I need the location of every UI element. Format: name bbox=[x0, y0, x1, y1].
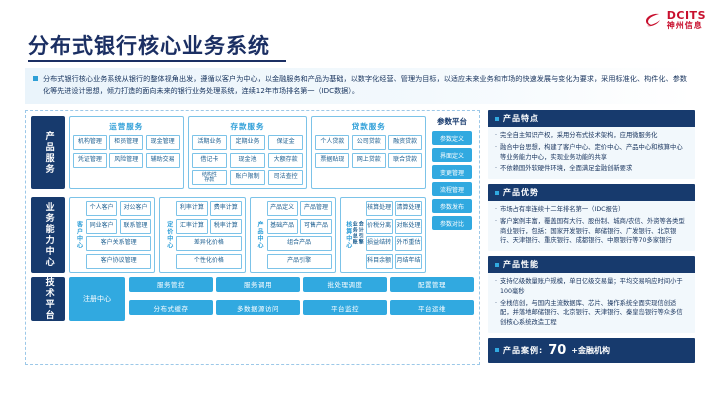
center-item-wide[interactable]: 客户协议管理 bbox=[86, 254, 151, 269]
center-item[interactable]: 个人客户 bbox=[86, 201, 117, 216]
center-item-wide[interactable]: 个性化价格 bbox=[176, 254, 241, 269]
bullet-dot-icon: · bbox=[495, 164, 497, 174]
group-title: 贷款服务 bbox=[315, 121, 422, 132]
info-card-item: ·客户案例丰富，覆盖国有大行、股份制、城商/农信、外资等各类型商业银行，包括：国… bbox=[495, 217, 688, 246]
product-case-banner: 产品案例: 70 +金融机构 bbox=[488, 338, 695, 363]
center-item[interactable]: 外币重估 bbox=[395, 236, 422, 251]
service-item[interactable]: 借记卡 bbox=[192, 153, 228, 168]
band-tech-platform: 技术平台注册中心服务管控服务调用批处理调度配置管理分布式缓存多数据源访问平台监控… bbox=[31, 277, 474, 321]
service-item[interactable]: 风险管理 bbox=[109, 153, 143, 168]
bullet-dot-icon: · bbox=[495, 217, 497, 246]
param-platform-title: 参数平台 bbox=[437, 116, 467, 127]
center-label: 定价中心 bbox=[166, 221, 172, 249]
param-item[interactable]: 界面定义 bbox=[432, 148, 472, 162]
side-label-text: 业务能力中心 bbox=[42, 202, 53, 268]
center-item[interactable]: 月结年结 bbox=[395, 254, 422, 269]
band-business-capability: 业务能力中心客户中心个人客户对公客户同业客户联系管理客户关系管理客户协议管理定价… bbox=[31, 197, 426, 273]
side-label-business-capability: 业务能力中心 bbox=[31, 197, 65, 273]
info-card-item: ·完全自主知识产权，采用分布式技术架构，应用微服务化 bbox=[495, 131, 688, 141]
info-card-item: ·不依赖国外软硬件环境，全面满足金融创新要求 bbox=[495, 164, 688, 174]
center-label: 核算中心 bbox=[345, 221, 351, 249]
center-item[interactable]: 对公客户 bbox=[120, 201, 151, 216]
center-item-wide[interactable]: 产品引擎 bbox=[267, 254, 332, 269]
group-title: 存款服务 bbox=[192, 121, 304, 132]
band-product-service: 产品服务运营服务机构管理柜员管理现金管理凭证管理风险管理辅助交易存款服务活期业务… bbox=[31, 116, 426, 189]
service-item[interactable]: 联合贷款 bbox=[388, 153, 422, 168]
service-item[interactable]: 保证金 bbox=[268, 135, 304, 150]
service-item[interactable]: 定期业务 bbox=[230, 135, 266, 150]
side-label-tech-platform: 技术平台 bbox=[31, 277, 65, 321]
service-item[interactable]: 柜员管理 bbox=[109, 135, 143, 150]
info-card-item: ·支持亿级数量账户规模，单日亿级交易量；平均交易响应时间小于100毫秒 bbox=[495, 277, 688, 297]
tech-item[interactable]: 分布式缓存 bbox=[129, 300, 213, 315]
center-item-wide[interactable]: 组合产品 bbox=[267, 236, 332, 251]
info-card-3: 产品性能·支持亿级数量账户规模，单日亿级交易量；平均交易响应时间小于100毫秒·… bbox=[488, 256, 695, 333]
center-item[interactable]: 基础产品 bbox=[267, 219, 298, 234]
service-item[interactable]: 凭证管理 bbox=[73, 153, 107, 168]
logo-en-text: DCITS bbox=[667, 10, 706, 21]
case-number: 70 bbox=[548, 343, 566, 358]
info-card-title: 产品特点 bbox=[503, 113, 539, 124]
center-item[interactable]: 费率计算 bbox=[210, 201, 241, 216]
tech-item[interactable]: 配置管理 bbox=[390, 277, 474, 292]
center-item-wide[interactable]: 客户关系管理 bbox=[86, 236, 151, 251]
info-card-item-text: 市场占有率连续十二年排名第一（IDC报告） bbox=[500, 205, 624, 215]
tech-item[interactable]: 平台监控 bbox=[303, 300, 387, 315]
intro-band: 分布式银行核心业务系统从银行的整体视角出发，遵循以客户为中心，以金融服务和产品为… bbox=[25, 68, 693, 104]
center-item[interactable]: 可售产品 bbox=[300, 219, 331, 234]
tech-item[interactable]: 批处理调度 bbox=[303, 277, 387, 292]
service-item[interactable]: 结构性 存款 bbox=[192, 170, 228, 185]
service-item[interactable]: 现金池 bbox=[230, 153, 266, 168]
bullet-dot-icon: · bbox=[495, 143, 497, 163]
center-item[interactable]: 科目余额 bbox=[366, 254, 393, 269]
info-card-item: ·全栈信创，与国内主流数据库、芯片、操作系统全面实现信创适配，并落地邮储银行、北… bbox=[495, 299, 688, 328]
info-card-item-text: 融合中台思想，构建了客户中心、定价中心、产品中心和核算中心等业务能力中心，实现业… bbox=[500, 143, 688, 163]
register-center[interactable]: 注册中心 bbox=[69, 277, 125, 321]
info-card-item-text: 不依赖国外软硬件环境，全面满足金融创新要求 bbox=[500, 164, 632, 174]
info-card-item-text: 全栈信创，与国内主流数据库、芯片、操作系统全面实现信创适配，并落地邮储银行、北京… bbox=[500, 299, 688, 328]
param-item[interactable]: 参数对比 bbox=[432, 216, 472, 230]
bullet-dot-icon: · bbox=[495, 131, 497, 141]
architecture-diagram: 产品服务运营服务机构管理柜员管理现金管理凭证管理风险管理辅助交易存款服务活期业务… bbox=[25, 110, 480, 365]
center-group-4: 会计引擎业务总账核算中心核算处理清算处理价税分离对账处理损益结转外币重估科目余额… bbox=[340, 197, 426, 273]
center-item[interactable]: 价税分离 bbox=[366, 219, 393, 234]
service-group-1: 运营服务机构管理柜员管理现金管理凭证管理风险管理辅助交易 bbox=[69, 116, 184, 189]
bullet-dot-icon: · bbox=[495, 299, 497, 328]
service-item[interactable]: 大额存款 bbox=[268, 153, 304, 168]
bullet-dot-icon: · bbox=[495, 277, 497, 297]
center-item[interactable]: 利率计算 bbox=[176, 201, 207, 216]
center-sub-label: 业务总账 bbox=[352, 221, 357, 249]
service-item[interactable]: 辅助交易 bbox=[146, 153, 180, 168]
square-bullet-icon bbox=[495, 263, 499, 267]
center-item-wide[interactable]: 差异化价格 bbox=[176, 236, 241, 251]
center-item[interactable]: 清算处理 bbox=[395, 201, 422, 216]
info-card-item: ·市场占有率连续十二年排名第一（IDC报告） bbox=[495, 205, 688, 215]
case-suffix: +金融机构 bbox=[571, 345, 610, 356]
service-item[interactable]: 公司贷款 bbox=[352, 135, 386, 150]
param-item[interactable]: 流程管理 bbox=[432, 182, 472, 196]
tech-item[interactable]: 服务调用 bbox=[216, 277, 300, 292]
info-card-header: 产品优势 bbox=[488, 184, 695, 201]
page-title: 分布式银行核心业务系统 bbox=[28, 30, 270, 60]
center-item[interactable]: 联系管理 bbox=[120, 219, 151, 234]
right-panel: 产品特点·完全自主知识产权，采用分布式技术架构，应用微服务化·融合中台思想，构建… bbox=[488, 110, 695, 365]
info-card-item: ·融合中台思想，构建了客户中心、定价中心、产品中心和核算中心等业务能力中心，实现… bbox=[495, 143, 688, 163]
center-item[interactable]: 产品定义 bbox=[267, 201, 298, 216]
center-vertical-label: 客户中心 bbox=[73, 201, 84, 269]
service-group-2: 存款服务活期业务定期业务保证金借记卡现金池大额存款结构性 存款账户限制司法查控 bbox=[188, 116, 308, 189]
service-item[interactable]: 现金管理 bbox=[146, 135, 180, 150]
center-sub-label: 会计引擎 bbox=[358, 221, 363, 249]
square-bullet-icon bbox=[495, 348, 499, 352]
slide-root: DCITS 神州信息 分布式银行核心业务系统 分布式银行核心业务系统从银行的整体… bbox=[0, 0, 720, 405]
service-item[interactable]: 机构管理 bbox=[73, 135, 107, 150]
service-item[interactable]: 活期业务 bbox=[192, 135, 228, 150]
side-label-text: 产品服务 bbox=[42, 131, 53, 175]
tech-item[interactable]: 多数据源访问 bbox=[216, 300, 300, 315]
info-card-1: 产品特点·完全自主知识产权，采用分布式技术架构，应用微服务化·融合中台思想，构建… bbox=[488, 110, 695, 179]
center-vertical-label: 会计引擎业务总账核算中心 bbox=[344, 201, 364, 269]
center-item[interactable]: 损益结转 bbox=[366, 236, 393, 251]
param-item[interactable]: 参数发布 bbox=[432, 199, 472, 213]
info-card-2: 产品优势·市场占有率连续十二年排名第一（IDC报告）·客户案例丰富，覆盖国有大行… bbox=[488, 184, 695, 251]
service-item[interactable]: 个人贷款 bbox=[315, 135, 349, 150]
center-item[interactable]: 对账处理 bbox=[395, 219, 422, 234]
title-underline bbox=[28, 60, 286, 62]
center-item[interactable]: 税率计算 bbox=[210, 219, 241, 234]
tech-item[interactable]: 平台运维 bbox=[390, 300, 474, 315]
dcits-swirl-icon bbox=[643, 10, 663, 30]
service-group-3: 贷款服务个人贷款公司贷款融资贷款票据贴现网上贷款联合贷款 bbox=[311, 116, 426, 189]
side-label-text: 技术平台 bbox=[42, 277, 53, 321]
center-group-1: 客户中心个人客户对公客户同业客户联系管理客户关系管理客户协议管理 bbox=[69, 197, 155, 273]
center-label: 客户中心 bbox=[76, 221, 82, 249]
center-group-2: 定价中心利率计算费率计算汇率计算税率计算差异化价格个性化价格 bbox=[159, 197, 245, 273]
group-title: 运营服务 bbox=[73, 121, 180, 132]
info-card-item-text: 客户案例丰富，覆盖国有大行、股份制、城商/农信、外资等各类型商业银行，包括：国家… bbox=[500, 217, 688, 246]
service-item[interactable]: 司法查控 bbox=[268, 170, 304, 185]
tech-item[interactable]: 服务管控 bbox=[129, 277, 213, 292]
logo-cn-text: 神州信息 bbox=[667, 22, 706, 30]
intro-text: 分布式银行核心业务系统从银行的整体视角出发，遵循以客户为中心，以金融服务和产品为… bbox=[43, 73, 687, 98]
side-label-product-service: 产品服务 bbox=[31, 116, 65, 189]
service-item[interactable]: 票据贴现 bbox=[315, 153, 349, 168]
info-card-item-text: 完全自主知识产权，采用分布式技术架构，应用微服务化 bbox=[500, 131, 657, 141]
square-bullet-icon bbox=[495, 117, 499, 121]
center-label: 产品中心 bbox=[256, 221, 262, 249]
param-item[interactable]: 参数定义 bbox=[432, 131, 472, 145]
service-item[interactable]: 账户限制 bbox=[230, 170, 266, 185]
brand-logo: DCITS 神州信息 bbox=[643, 10, 706, 30]
case-label: 产品案例: bbox=[503, 345, 543, 356]
info-card-header: 产品性能 bbox=[488, 256, 695, 273]
square-bullet-icon bbox=[495, 191, 499, 195]
info-card-header: 产品特点 bbox=[488, 110, 695, 127]
param-platform: 参数平台参数定义界面定义变更管理流程管理参数发布参数对比 bbox=[430, 116, 474, 273]
center-vertical-label: 产品中心 bbox=[254, 201, 265, 269]
center-item[interactable]: 同业客户 bbox=[86, 219, 117, 234]
center-item[interactable]: 核算处理 bbox=[366, 201, 393, 216]
square-bullet-icon bbox=[33, 76, 38, 81]
service-item[interactable]: 网上贷款 bbox=[352, 153, 386, 168]
service-item[interactable]: 融资贷款 bbox=[388, 135, 422, 150]
info-card-title: 产品性能 bbox=[503, 259, 539, 270]
center-item[interactable]: 汇率计算 bbox=[176, 219, 207, 234]
center-item[interactable]: 产品管理 bbox=[300, 201, 331, 216]
center-group-3: 产品中心产品定义产品管理基础产品可售产品组合产品产品引擎 bbox=[250, 197, 336, 273]
bullet-dot-icon: · bbox=[495, 205, 497, 215]
info-card-item-text: 支持亿级数量账户规模，单日亿级交易量；平均交易响应时间小于100毫秒 bbox=[500, 277, 688, 297]
param-item[interactable]: 变更管理 bbox=[432, 165, 472, 179]
info-card-title: 产品优势 bbox=[503, 187, 539, 198]
center-vertical-label: 定价中心 bbox=[163, 201, 174, 269]
